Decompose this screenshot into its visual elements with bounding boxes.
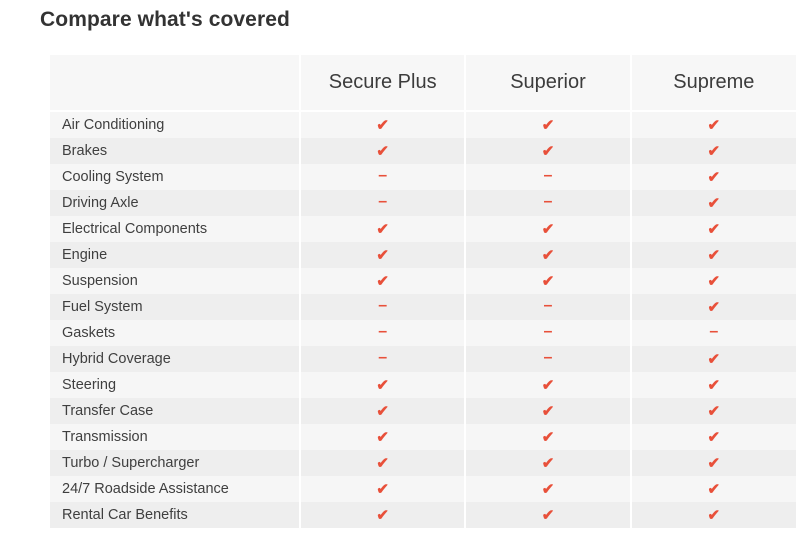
coverage-cell-superior: ✔ [465, 424, 630, 450]
coverage-cell-secure_plus: – [300, 346, 465, 372]
column-header-superior: Superior [465, 55, 630, 111]
check-icon: ✔ [708, 404, 721, 419]
coverage-cell-superior: ✔ [465, 372, 630, 398]
check-icon: ✔ [376, 404, 389, 419]
check-icon: ✔ [376, 248, 389, 263]
feature-label: Turbo / Supercharger [50, 450, 300, 476]
coverage-comparison-table: Secure Plus Superior Supreme Air Conditi… [50, 55, 796, 528]
coverage-cell-supreme: ✔ [631, 450, 796, 476]
feature-label: Cooling System [50, 164, 300, 190]
table-body: Air Conditioning✔✔✔Brakes✔✔✔Cooling Syst… [50, 111, 796, 528]
check-icon: ✔ [376, 508, 389, 523]
coverage-cell-superior: ✔ [465, 216, 630, 242]
coverage-cell-supreme: ✔ [631, 424, 796, 450]
check-icon: ✔ [708, 508, 721, 523]
coverage-cell-superior: ✔ [465, 138, 630, 164]
check-icon: ✔ [376, 222, 389, 237]
coverage-cell-supreme: ✔ [631, 164, 796, 190]
column-header-feature [50, 55, 300, 111]
feature-label: Brakes [50, 138, 300, 164]
table-row: Turbo / Supercharger✔✔✔ [50, 450, 796, 476]
table-header-row: Secure Plus Superior Supreme [50, 55, 796, 111]
check-icon: ✔ [708, 430, 721, 445]
column-header-supreme: Supreme [631, 55, 796, 111]
feature-label: Hybrid Coverage [50, 346, 300, 372]
feature-label: Gaskets [50, 320, 300, 346]
feature-label: Engine [50, 242, 300, 268]
check-icon: ✔ [542, 222, 555, 237]
dash-icon: – [378, 298, 387, 314]
coverage-cell-secure_plus: ✔ [300, 216, 465, 242]
coverage-cell-superior: – [465, 346, 630, 372]
coverage-cell-superior: ✔ [465, 268, 630, 294]
table-row: 24/7 Roadside Assistance✔✔✔ [50, 476, 796, 502]
coverage-cell-supreme: ✔ [631, 216, 796, 242]
coverage-cell-secure_plus: ✔ [300, 372, 465, 398]
column-header-secure-plus: Secure Plus [300, 55, 465, 111]
compare-coverage-page: Compare what's covered Secure Plus Super… [0, 0, 796, 544]
feature-label: Air Conditioning [50, 111, 300, 138]
page-title: Compare what's covered [40, 8, 290, 32]
table-row: Brakes✔✔✔ [50, 138, 796, 164]
coverage-cell-superior: – [465, 190, 630, 216]
coverage-cell-supreme: ✔ [631, 372, 796, 398]
check-icon: ✔ [708, 222, 721, 237]
table-row: Air Conditioning✔✔✔ [50, 111, 796, 138]
coverage-cell-secure_plus: – [300, 320, 465, 346]
coverage-cell-supreme: ✔ [631, 398, 796, 424]
coverage-cell-superior: ✔ [465, 242, 630, 268]
coverage-cell-secure_plus: ✔ [300, 138, 465, 164]
check-icon: ✔ [708, 196, 721, 211]
check-icon: ✔ [708, 300, 721, 315]
dash-icon: – [709, 324, 718, 340]
coverage-cell-supreme: ✔ [631, 242, 796, 268]
dash-icon: – [378, 350, 387, 366]
table-row: Electrical Components✔✔✔ [50, 216, 796, 242]
coverage-cell-secure_plus: ✔ [300, 476, 465, 502]
coverage-cell-supreme: ✔ [631, 138, 796, 164]
check-icon: ✔ [376, 378, 389, 393]
feature-label: Rental Car Benefits [50, 502, 300, 528]
check-icon: ✔ [708, 144, 721, 159]
check-icon: ✔ [542, 508, 555, 523]
check-icon: ✔ [542, 378, 555, 393]
coverage-cell-secure_plus: ✔ [300, 502, 465, 528]
coverage-cell-supreme: ✔ [631, 346, 796, 372]
table-row: Fuel System––✔ [50, 294, 796, 320]
check-icon: ✔ [376, 274, 389, 289]
check-icon: ✔ [376, 430, 389, 445]
coverage-cell-supreme: – [631, 320, 796, 346]
coverage-cell-superior: – [465, 164, 630, 190]
coverage-cell-secure_plus: – [300, 294, 465, 320]
table-row: Suspension✔✔✔ [50, 268, 796, 294]
check-icon: ✔ [376, 144, 389, 159]
coverage-cell-supreme: ✔ [631, 111, 796, 138]
coverage-cell-superior: ✔ [465, 476, 630, 502]
check-icon: ✔ [708, 170, 721, 185]
check-icon: ✔ [708, 482, 721, 497]
coverage-cell-secure_plus: ✔ [300, 424, 465, 450]
coverage-cell-supreme: ✔ [631, 502, 796, 528]
check-icon: ✔ [542, 404, 555, 419]
check-icon: ✔ [542, 118, 555, 133]
check-icon: ✔ [708, 378, 721, 393]
table-row: Transfer Case✔✔✔ [50, 398, 796, 424]
check-icon: ✔ [542, 430, 555, 445]
coverage-cell-supreme: ✔ [631, 190, 796, 216]
check-icon: ✔ [542, 274, 555, 289]
dash-icon: – [544, 194, 553, 210]
coverage-cell-secure_plus: ✔ [300, 398, 465, 424]
check-icon: ✔ [708, 248, 721, 263]
feature-label: Transfer Case [50, 398, 300, 424]
check-icon: ✔ [542, 248, 555, 263]
table-row: Steering✔✔✔ [50, 372, 796, 398]
dash-icon: – [544, 350, 553, 366]
coverage-cell-secure_plus: ✔ [300, 242, 465, 268]
feature-label: 24/7 Roadside Assistance [50, 476, 300, 502]
coverage-cell-superior: ✔ [465, 111, 630, 138]
dash-icon: – [544, 324, 553, 340]
check-icon: ✔ [376, 482, 389, 497]
coverage-cell-secure_plus: ✔ [300, 111, 465, 138]
table-row: Gaskets––– [50, 320, 796, 346]
table-row: Driving Axle––✔ [50, 190, 796, 216]
feature-label: Steering [50, 372, 300, 398]
table-row: Cooling System––✔ [50, 164, 796, 190]
coverage-cell-secure_plus: ✔ [300, 268, 465, 294]
feature-label: Fuel System [50, 294, 300, 320]
check-icon: ✔ [708, 456, 721, 471]
check-icon: ✔ [542, 144, 555, 159]
table-row: Hybrid Coverage––✔ [50, 346, 796, 372]
table-row: Transmission✔✔✔ [50, 424, 796, 450]
table-header: Secure Plus Superior Supreme [50, 55, 796, 111]
coverage-cell-secure_plus: ✔ [300, 450, 465, 476]
coverage-cell-secure_plus: – [300, 164, 465, 190]
feature-label: Suspension [50, 268, 300, 294]
dash-icon: – [378, 194, 387, 210]
check-icon: ✔ [542, 456, 555, 471]
table-row: Engine✔✔✔ [50, 242, 796, 268]
check-icon: ✔ [708, 274, 721, 289]
dash-icon: – [378, 168, 387, 184]
coverage-cell-supreme: ✔ [631, 476, 796, 502]
coverage-cell-superior: – [465, 320, 630, 346]
dash-icon: – [378, 324, 387, 340]
coverage-cell-superior: ✔ [465, 502, 630, 528]
coverage-cell-supreme: ✔ [631, 294, 796, 320]
table-row: Rental Car Benefits✔✔✔ [50, 502, 796, 528]
coverage-cell-secure_plus: – [300, 190, 465, 216]
feature-label: Electrical Components [50, 216, 300, 242]
dash-icon: – [544, 298, 553, 314]
check-icon: ✔ [376, 118, 389, 133]
coverage-cell-supreme: ✔ [631, 268, 796, 294]
compare-table-container: Secure Plus Superior Supreme Air Conditi… [50, 55, 796, 528]
dash-icon: – [544, 168, 553, 184]
feature-label: Transmission [50, 424, 300, 450]
check-icon: ✔ [376, 456, 389, 471]
coverage-cell-superior: ✔ [465, 398, 630, 424]
check-icon: ✔ [542, 482, 555, 497]
check-icon: ✔ [708, 118, 721, 133]
feature-label: Driving Axle [50, 190, 300, 216]
coverage-cell-superior: ✔ [465, 450, 630, 476]
coverage-cell-superior: – [465, 294, 630, 320]
check-icon: ✔ [708, 352, 721, 367]
